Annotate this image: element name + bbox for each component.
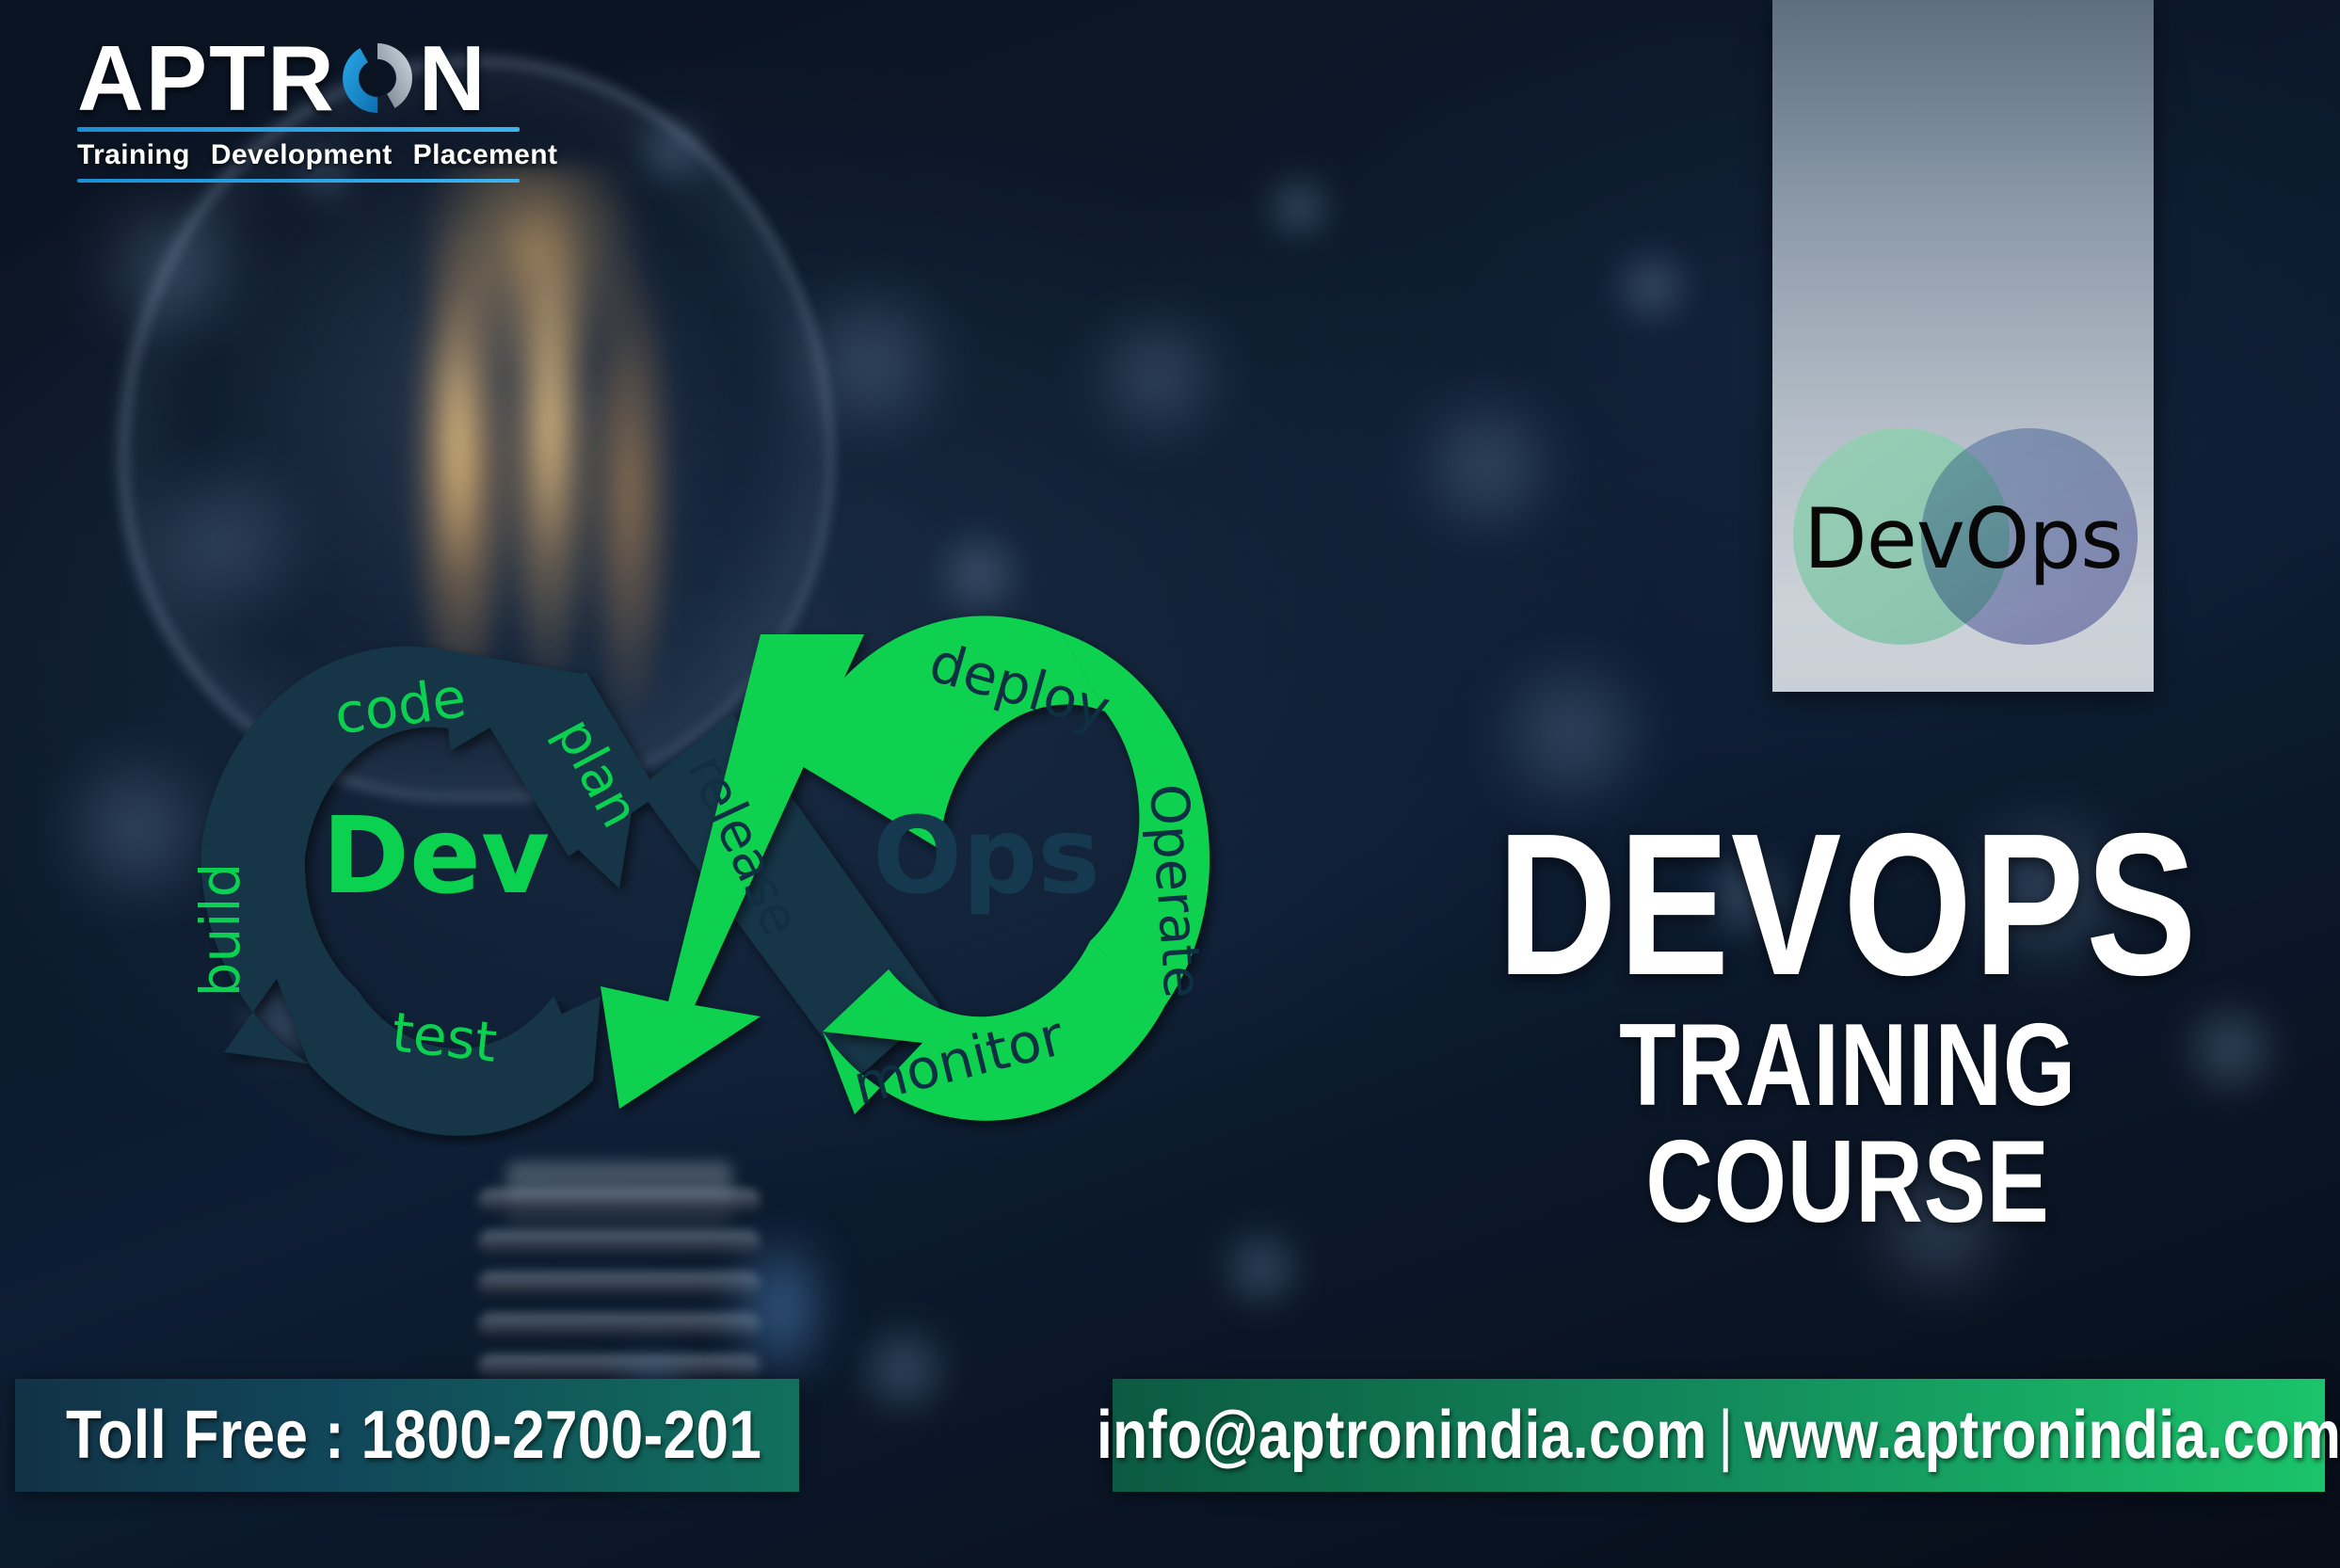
aptron-logo[interactable]: APTR	[77, 36, 520, 183]
devops-infinity-loop: code build test plan Dev deploy Operate …	[111, 610, 1325, 1146]
venn-diagram: DevOps	[1772, 411, 2154, 665]
toll-free-text: Toll Free : 1800-2700-201	[66, 1397, 761, 1474]
toll-free-number: 1800-2700-201	[361, 1398, 762, 1473]
dev-center-label: Dev	[322, 795, 550, 918]
page-title: DEVOPS	[1482, 811, 2215, 998]
contact-separator: |	[1707, 1397, 1744, 1474]
logo-text-right: N	[419, 36, 488, 120]
email-link[interactable]: info@aptronindia.com	[1097, 1398, 1707, 1473]
logo-tagline: Training Development Placement	[77, 139, 520, 171]
toll-free-bar[interactable]: Toll Free : 1800-2700-201	[15, 1379, 799, 1492]
swirl-circle-icon	[338, 39, 417, 118]
stage-label-build: build	[188, 863, 252, 998]
website-link[interactable]: www.aptronindia.com	[1744, 1398, 2340, 1473]
logo-wordmark: APTR	[77, 36, 520, 120]
contact-bar[interactable]: info@aptronindia.com|www.aptronindia.com	[1113, 1379, 2325, 1492]
venn-label: DevOps	[1772, 411, 2154, 665]
logo-text-left: APTR	[77, 36, 336, 120]
tagline-placement: Placement	[413, 139, 558, 171]
devops-venn-panel: DevOps	[1772, 0, 2154, 692]
blue-light-flare	[725, 1224, 838, 1393]
page-subtitle: TRAINING COURSE	[1490, 1007, 2205, 1240]
devops-training-banner: APTR	[0, 0, 2340, 1568]
logo-divider-bottom	[77, 179, 520, 183]
toll-free-label: Toll Free :	[66, 1398, 361, 1473]
contact-text: info@aptronindia.com|www.aptronindia.com	[1097, 1397, 2340, 1474]
lightbulb-filament-core	[405, 221, 640, 645]
stage-label-test: test	[389, 1000, 500, 1074]
ops-center-label: Ops	[873, 795, 1100, 918]
tagline-development: Development	[211, 139, 393, 171]
headline-block: DEVOPS TRAINING COURSE	[1401, 811, 2295, 1240]
tagline-training: Training	[77, 139, 190, 171]
